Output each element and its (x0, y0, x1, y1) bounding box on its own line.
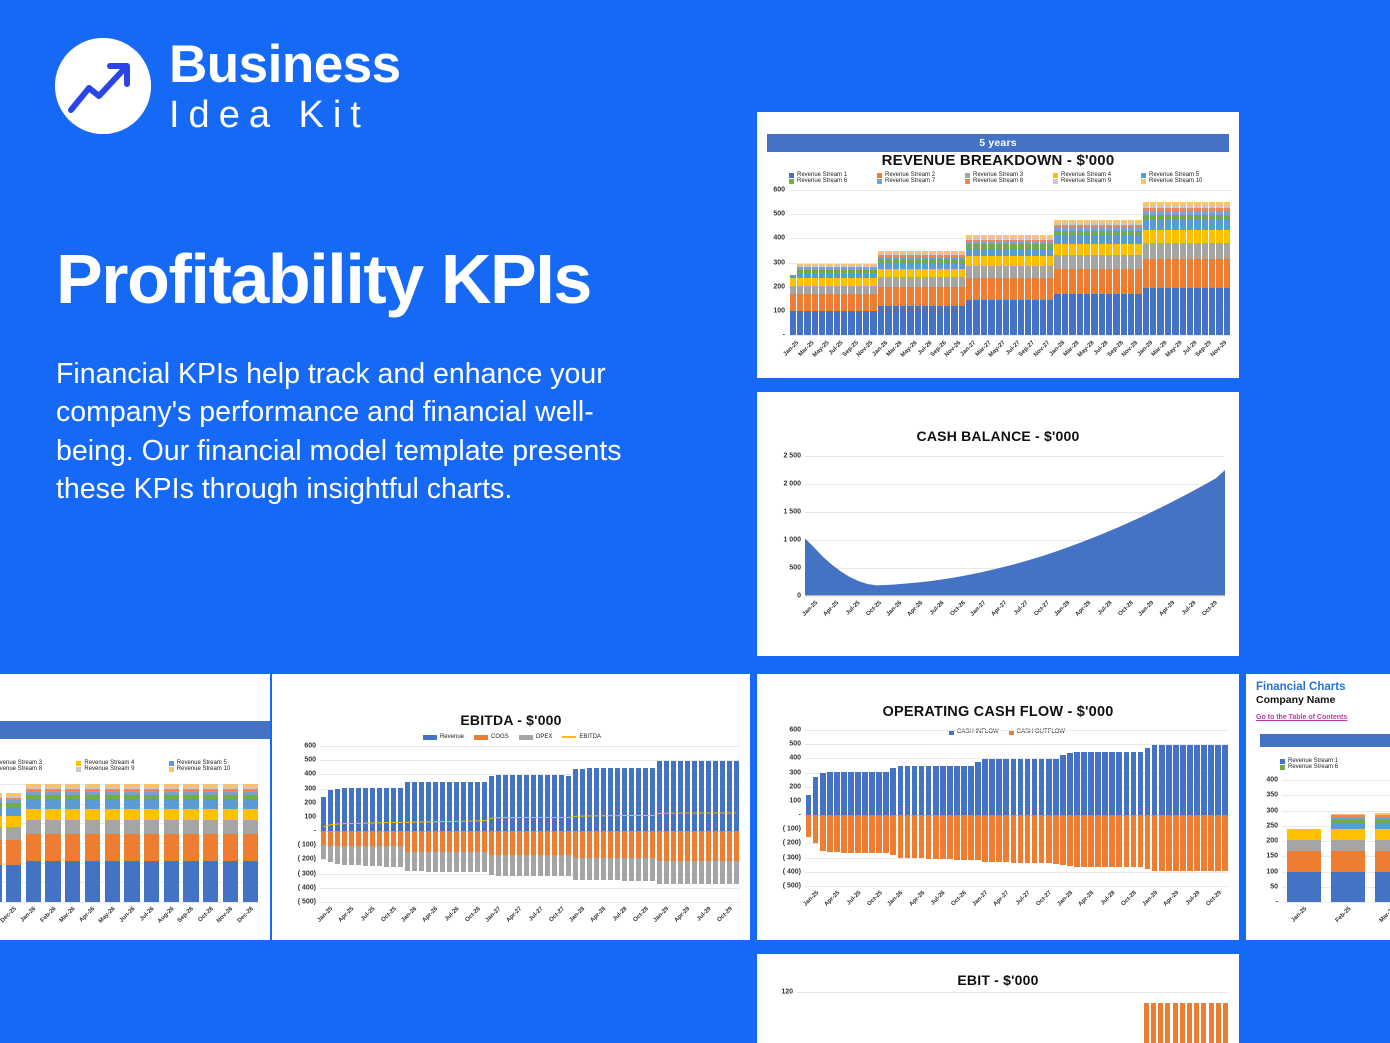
bar-segment (790, 311, 796, 335)
bar-segment (1157, 230, 1163, 243)
x-axis-line (805, 595, 1225, 596)
y-tick-label: - (783, 332, 785, 339)
bar-column (870, 190, 876, 335)
bar-segment (834, 294, 840, 310)
x-tick-label: Mar-25 (1378, 906, 1390, 924)
bar-segment (1099, 269, 1105, 294)
bar-segment (1032, 278, 1038, 300)
bar-segment (1157, 220, 1163, 230)
legend-swatch (169, 761, 174, 766)
bar-segment (1201, 815, 1207, 871)
bar-segment (1159, 745, 1165, 815)
bar-column (1222, 730, 1228, 886)
card-ebitda[interactable]: EBITDA - $'000 RevenueCOGSOPEXEBITDA 600… (272, 674, 750, 940)
bar-segment (1172, 243, 1178, 259)
card-revenue-breakdown-5y[interactable]: 5 years REVENUE BREAKDOWN - $'000 Revenu… (757, 112, 1239, 378)
bar-segment (890, 815, 896, 855)
bar-segment (1032, 249, 1038, 256)
table-of-contents-link[interactable]: Go to the Table of Contents (1256, 714, 1347, 721)
bar-column (1046, 730, 1052, 886)
bar-segment (1047, 249, 1053, 256)
x-tick-label: Apr-25 (823, 890, 841, 908)
bar-segment (1180, 815, 1186, 871)
y-tick-label: 50 (1270, 883, 1278, 890)
legend-label: Revenue Stream 9 (84, 766, 134, 772)
bar-segment (870, 278, 876, 285)
bar-segment (863, 278, 869, 285)
bar-segment (922, 277, 928, 287)
x-tick-label: Oct-26 (951, 890, 968, 907)
bar-segment (940, 815, 946, 859)
bar-segment (1157, 259, 1163, 288)
x-axis-labels: Jan-25Apr-25Jul-25Oct-25Jan-26Apr-26Jul-… (805, 600, 1225, 642)
bar-segment (183, 800, 198, 809)
bar-segment (937, 277, 943, 287)
bar-segment (1209, 230, 1215, 243)
bar-column (848, 730, 854, 886)
bar-segment (907, 306, 913, 335)
bar-segment (1060, 815, 1066, 865)
x-tick-label: Oct-29 (1201, 600, 1218, 617)
y-tick-label: ( 200) (783, 840, 801, 847)
bar-segment (183, 834, 198, 861)
y-tick-label: 200 (789, 783, 801, 790)
bar-segment (1150, 243, 1156, 259)
bar-segment (1040, 256, 1046, 266)
bar-segment (1331, 851, 1365, 872)
bar-segment (819, 294, 825, 310)
bar-segment (797, 278, 803, 285)
bar-segment (922, 287, 928, 306)
y-tick-label: 100 (773, 307, 785, 314)
bar (1201, 1003, 1206, 1043)
plot-area (789, 190, 1231, 335)
bar-segment (988, 300, 994, 335)
x-tick-label: Feb-25 (1334, 906, 1352, 924)
bar-segment (6, 816, 21, 827)
y-axis-labels: 600500400300200100-( 100)( 200)( 300)( 4… (757, 730, 801, 886)
x-axis-labels: Jan-25Feb-25Mar-25Apr-25May-25Jun-25 (1282, 906, 1390, 940)
bar-segment (105, 834, 120, 861)
y-tick-label: 300 (304, 785, 316, 792)
plot-area (797, 992, 1229, 1043)
bar-column (929, 190, 935, 335)
bar-segment (1165, 243, 1171, 259)
bar-column (1138, 730, 1144, 886)
bar-column (1025, 190, 1031, 335)
y-axis-labels: 600500400300200100- (757, 190, 785, 335)
bar-segment (1003, 300, 1009, 335)
x-tick-label: Apr-28 (1078, 890, 1096, 908)
bar-segment (841, 815, 847, 852)
legend-swatch (1053, 179, 1058, 184)
bar-segment (1209, 259, 1215, 288)
bar-segment (1209, 288, 1215, 335)
bar-column (863, 190, 869, 335)
bar-segment (951, 277, 957, 287)
bar-segment (1135, 235, 1141, 244)
x-tick-label: Apr-26 (422, 906, 440, 924)
card-revenue-breakdown-24m[interactable]: 24 months REAKDOWN - $'000 Revenue Strea… (0, 674, 270, 940)
bar-segment (1165, 288, 1171, 335)
y-tick-label: 500 (304, 757, 316, 764)
bar-segment (1128, 255, 1134, 269)
bar-column (144, 784, 159, 902)
bar-segment (1157, 243, 1163, 259)
card-ebit[interactable]: EBIT - $'000 12010080 (757, 954, 1239, 1043)
y-tick-label: 600 (304, 743, 316, 750)
bar-segment (856, 286, 862, 295)
bar-segment (893, 269, 899, 277)
bar-segment (1069, 269, 1075, 294)
bar-segment (856, 294, 862, 310)
y-axis-labels: 40035030025020015010050- (1246, 780, 1278, 902)
y-tick-label: 300 (1266, 807, 1278, 814)
bar-column (1067, 730, 1073, 886)
bar-segment (1224, 288, 1230, 335)
bar-segment (65, 834, 80, 861)
bar-segment (968, 815, 974, 860)
bar-segment (929, 277, 935, 287)
bar-column (1074, 730, 1080, 886)
bar-segment (1113, 294, 1119, 335)
bar-segment (1121, 244, 1127, 255)
y-tick-label: ( 100) (298, 842, 316, 849)
legend-swatch (789, 173, 794, 178)
bar-segment (1077, 255, 1083, 269)
bar-segment (812, 286, 818, 295)
x-tick-label: Apr-28 (1075, 600, 1093, 618)
bar-column (26, 784, 41, 902)
bar-segment (885, 287, 891, 306)
bar-segment (85, 800, 100, 809)
bar-segment (926, 766, 932, 815)
bar-segment (1150, 230, 1156, 243)
y-tick-label: 600 (789, 727, 801, 734)
bar-group (789, 190, 1231, 335)
bar-column (1165, 190, 1171, 335)
bar-segment (144, 800, 159, 809)
bar-segment (870, 294, 876, 310)
bar-segment (1003, 815, 1009, 862)
x-tick-label: Jul-28 (612, 906, 629, 923)
bar-segment (1040, 266, 1046, 278)
bar-segment (1074, 815, 1080, 867)
bar-segment (1121, 269, 1127, 294)
card-operating-cash-flow[interactable]: OPERATING CASH FLOW - $'000 CASH INFLOWC… (757, 674, 1239, 940)
bar-column (1131, 730, 1137, 886)
bar-segment (826, 311, 832, 335)
bar-segment (812, 311, 818, 335)
bar-segment (243, 820, 258, 834)
legend-item: Revenue Stream 8 (0, 766, 76, 772)
bar-segment (144, 820, 159, 834)
bar-segment (1215, 745, 1221, 815)
bar-segment (1194, 259, 1200, 288)
bar-column (876, 730, 882, 886)
bar-segment (1025, 278, 1031, 300)
bar-segment (996, 300, 1002, 335)
bar-segment (1180, 220, 1186, 230)
x-tick-label: Oct-26 (198, 906, 215, 923)
y-axis-labels: 2 5002 0001 5001 0005000 (757, 456, 801, 596)
y-tick-label: 1 500 (783, 509, 801, 516)
bar-segment (1040, 249, 1046, 256)
bar-group (805, 730, 1229, 886)
bar-segment (1032, 300, 1038, 335)
bar-segment (797, 286, 803, 295)
bar-segment (856, 278, 862, 285)
bar-segment (1113, 255, 1119, 269)
bar-segment (1165, 220, 1171, 230)
bar-segment (1128, 269, 1134, 294)
legend-item: Revenue (423, 734, 464, 740)
bar-segment (26, 861, 41, 902)
bar-segment (973, 249, 979, 256)
bar-column (1018, 730, 1024, 886)
bar-segment (1102, 752, 1108, 815)
bar-segment (959, 269, 965, 277)
bar-segment (1047, 266, 1053, 278)
bar-column (6, 784, 21, 902)
bar-column (834, 190, 840, 335)
y-tick-label: 300 (789, 769, 801, 776)
bar-column (85, 784, 100, 902)
bar-segment (915, 269, 921, 277)
y-tick-label: 120 (781, 989, 793, 996)
bar-segment (797, 311, 803, 335)
bar-segment (1331, 872, 1365, 903)
bar-column (819, 190, 825, 335)
x-tick-label: Apr-28 (590, 906, 608, 924)
bar-segment (893, 306, 899, 335)
bar-segment (1069, 294, 1075, 335)
bar-segment (124, 861, 139, 902)
bar-segment (144, 861, 159, 902)
bar-segment (819, 278, 825, 285)
bar-column (1069, 190, 1075, 335)
bar-column (973, 190, 979, 335)
bar-column (890, 730, 896, 886)
bar-segment (841, 286, 847, 295)
bar-segment (1194, 815, 1200, 871)
bar-segment (1011, 759, 1017, 815)
bar-segment (1062, 255, 1068, 269)
bar-segment (813, 777, 819, 815)
bar-segment (790, 286, 796, 295)
bar-segment (45, 834, 60, 861)
legend-swatch (423, 735, 437, 740)
bar-segment (959, 306, 965, 335)
bar-segment (0, 808, 2, 816)
bar-segment (1180, 243, 1186, 259)
bar-segment (966, 256, 972, 266)
x-tick-label: Oct-27 (548, 906, 565, 923)
bar-segment (203, 861, 218, 902)
brand-logo: Business Idea Kit (55, 38, 401, 134)
bar-segment (1091, 269, 1097, 294)
y-tick-label: 500 (773, 211, 785, 218)
bar-segment (105, 820, 120, 834)
bar-segment (820, 773, 826, 815)
bar-segment (1331, 840, 1365, 851)
bar-segment (804, 294, 810, 310)
bar-column (981, 190, 987, 335)
bar-column (1166, 730, 1172, 886)
bar-segment (834, 772, 840, 815)
bar-segment (45, 809, 60, 821)
bar-column (804, 190, 810, 335)
bar-segment (988, 266, 994, 278)
bar-segment (1040, 278, 1046, 300)
bar-segment (797, 294, 803, 310)
x-tick-label: Jan-29 (1138, 600, 1156, 618)
legend-item: Revenue Stream 6 (1280, 764, 1390, 770)
bar-segment (841, 311, 847, 335)
x-tick-label: Jul-25 (360, 906, 377, 923)
chart-legend: RevenueCOGSOPEXEBITDA (392, 734, 632, 740)
bar-segment (826, 286, 832, 295)
bar-segment (1173, 815, 1179, 871)
bar-column (826, 190, 832, 335)
legend-item: Revenue Stream 9 (76, 766, 168, 772)
bar-segment (1194, 745, 1200, 815)
bar-column (1187, 730, 1193, 886)
x-tick-label: Jul-26 (931, 890, 948, 907)
bar-segment (45, 820, 60, 834)
x-tick-label: Jul-27 (528, 906, 545, 923)
period-band (1260, 734, 1390, 747)
bar-column (1180, 730, 1186, 886)
bar-segment (975, 762, 981, 815)
x-tick-label: Apr-25 (338, 906, 356, 924)
bar-column (1106, 190, 1112, 335)
y-tick-label: 2 500 (783, 453, 801, 460)
legend-swatch (1141, 179, 1146, 184)
bar-segment (1202, 220, 1208, 230)
bar-segment (893, 287, 899, 306)
bar-segment (1150, 259, 1156, 288)
bar-group (1282, 780, 1390, 902)
card-financial-charts-panel[interactable]: Financial Charts Company Name Go to the … (1246, 674, 1390, 940)
bar-segment (1138, 815, 1144, 867)
x-tick-label: Apr-27 (506, 906, 524, 924)
bar-segment (26, 800, 41, 809)
bar-segment (973, 266, 979, 278)
page-title: Profitability KPIs (56, 243, 591, 317)
y-axis-labels: 12010080 (757, 992, 793, 1043)
bar-segment (1077, 235, 1083, 244)
x-tick-label: Jul-29 (1181, 600, 1198, 617)
chart-legend: Revenue Stream 1Revenue Stream 2Revenue … (789, 172, 1229, 184)
legend-swatch (76, 767, 81, 772)
bar-segment (834, 311, 840, 335)
bar-segment (1150, 288, 1156, 335)
bar-segment (981, 249, 987, 256)
bar-column (1143, 190, 1149, 335)
bar-segment (898, 815, 904, 858)
bar-segment (915, 306, 921, 335)
bar-segment (1152, 745, 1158, 815)
bar-segment (6, 840, 21, 865)
y-tick-label: ( 300) (298, 870, 316, 877)
bar-segment (1224, 243, 1230, 259)
legend-label: COGS (491, 734, 509, 740)
y-tick-label: 200 (304, 799, 316, 806)
bar-column (1054, 190, 1060, 335)
bar-column (959, 190, 965, 335)
bar-segment (848, 294, 854, 310)
x-tick-label: Jul-25 (845, 600, 862, 617)
x-tick-label: Jan-28 (569, 906, 587, 924)
bar-segment (1287, 829, 1321, 839)
bar-segment (855, 772, 861, 815)
bar-segment (1287, 851, 1321, 872)
bar-column (954, 730, 960, 886)
x-tick-label: Jan-27 (485, 906, 503, 924)
bar-segment (951, 269, 957, 277)
bar-column (1215, 730, 1221, 886)
bar-segment (929, 287, 935, 306)
bar-segment (1187, 259, 1193, 288)
legend-label: Revenue Stream 7 (885, 178, 935, 184)
bar-column (806, 730, 812, 886)
x-tick-label: Jan-29 (1141, 890, 1159, 908)
bar-segment (1062, 235, 1068, 244)
bar-segment (223, 861, 238, 902)
bar-segment (243, 834, 258, 861)
bar-segment (1046, 759, 1052, 815)
ebitda-line-series (320, 746, 740, 902)
y-tick-label: 400 (304, 771, 316, 778)
bar-segment (933, 766, 939, 815)
bar-column (1084, 190, 1090, 335)
bar-column (1375, 780, 1390, 902)
bar-column (982, 730, 988, 886)
y-tick-label: 100 (1266, 868, 1278, 875)
bar-segment (944, 306, 950, 335)
bar-segment (1054, 294, 1060, 335)
bar-segment (1106, 269, 1112, 294)
bar-column (1099, 190, 1105, 335)
bar-segment (1375, 823, 1390, 830)
bar-segment (1011, 815, 1017, 863)
x-tick-label: Jul-27 (1013, 600, 1030, 617)
bar-segment (1010, 266, 1016, 278)
y-tick-label: 2 000 (783, 481, 801, 488)
x-tick-label: Oct-28 (1117, 600, 1134, 617)
bar-segment (1180, 230, 1186, 243)
bar-segment (1331, 823, 1365, 830)
bar-segment (45, 800, 60, 809)
bar-column (966, 190, 972, 335)
bar-segment (1084, 294, 1090, 335)
bar-column (1194, 730, 1200, 886)
bar-segment (862, 772, 868, 815)
bar-segment (1202, 243, 1208, 259)
bar-segment (1106, 235, 1112, 244)
bar-column (1187, 190, 1193, 335)
bar-segment (1010, 300, 1016, 335)
card-cash-balance[interactable]: CASH BALANCE - $'000 2 5002 0001 5001 00… (757, 392, 1239, 656)
bar-segment (65, 800, 80, 809)
x-tick-label: Jan-26 (401, 906, 419, 924)
y-tick-label: 500 (789, 565, 801, 572)
bar-column (940, 730, 946, 886)
bar-segment (885, 306, 891, 335)
bar-column (878, 190, 884, 335)
legend-label: Revenue Stream 8 (973, 178, 1023, 184)
